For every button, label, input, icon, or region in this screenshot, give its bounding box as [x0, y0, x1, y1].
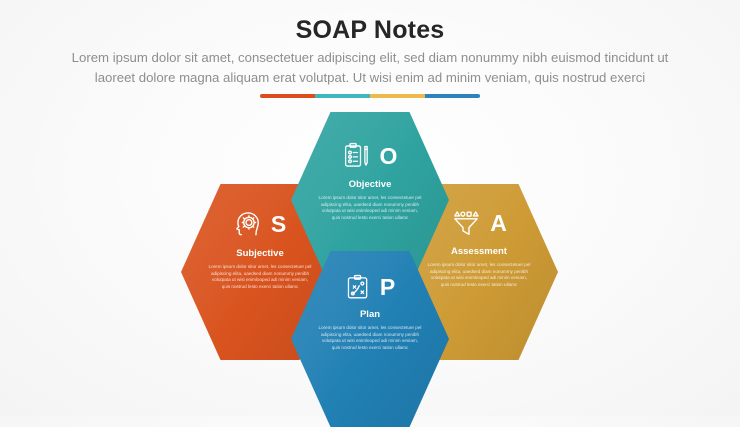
objective-body-text: Lorem ipsum dolor sitor amet, les consec…	[318, 195, 422, 221]
subjective-body-text: Lorem ipsum dolor sitor amet, les consec…	[208, 264, 312, 290]
head-gear-icon	[234, 210, 262, 238]
objective-title: Objective	[291, 179, 449, 190]
clipboard-checklist-pencil-icon	[343, 142, 371, 170]
infographic-canvas: SOAP Notes Lorem ipsum dolor sit amet, c…	[0, 0, 740, 416]
objective-letter-badge: O	[380, 145, 398, 168]
plan-letter-badge: P	[380, 276, 395, 299]
assessment-letter-badge: A	[490, 212, 507, 235]
page-subtitle: Lorem ipsum dolor sit amet, consectetuer…	[50, 48, 690, 88]
plan-title: Plan	[291, 309, 449, 320]
divider-segment-4	[425, 94, 480, 98]
divider-segment-3	[370, 94, 425, 98]
divider-segment-2	[315, 94, 370, 98]
objective-icon-row: O	[291, 142, 449, 170]
clipboard-strategy-icon	[345, 274, 371, 300]
subjective-letter-badge: S	[271, 213, 286, 236]
plan-body-text: Lorem ipsum dolor sitor amet, les consec…	[318, 325, 422, 351]
accent-divider-bar	[260, 94, 480, 98]
funnel-filter-icon	[451, 210, 481, 236]
page-title: SOAP Notes	[0, 16, 740, 45]
assessment-body-text: Lorem ipsum dolor sitor amet, les consec…	[427, 262, 531, 288]
divider-segment-1	[260, 94, 315, 98]
